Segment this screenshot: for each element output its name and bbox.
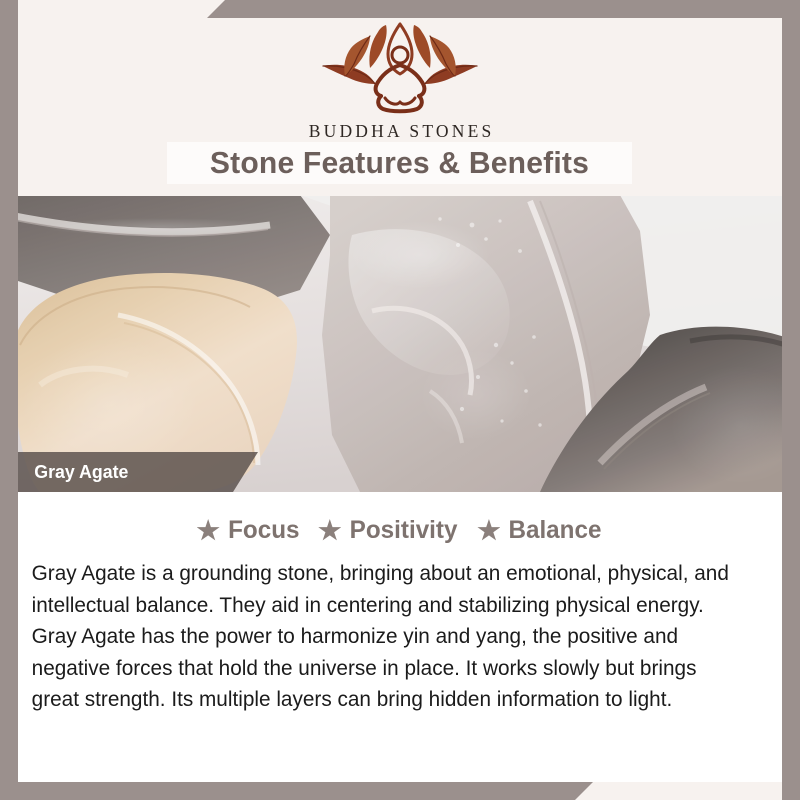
header: BUDDHA STONES Stone Features & Benefits xyxy=(0,0,800,196)
stone-photo: Gray Agate xyxy=(0,195,800,492)
page-title: Stone Features & Benefits xyxy=(210,145,589,181)
keyword-item-focus: Focus xyxy=(197,516,301,545)
stone-name-label: Gray Agate xyxy=(3,461,129,483)
keyword-list: Focus Positivity Balance xyxy=(18,516,782,545)
stone-name-badge: Gray Agate xyxy=(0,452,258,492)
poster-root: BUDDHA STONES Stone Features & Benefits xyxy=(0,0,800,800)
star-icon xyxy=(318,519,341,542)
brand-name: BUDDHA STONES xyxy=(0,121,800,142)
stone-photo-image xyxy=(0,195,800,492)
star-icon xyxy=(477,519,500,542)
keyword-item-balance: Balance xyxy=(477,516,603,545)
decorative-band-bottom xyxy=(0,782,800,800)
content-panel: Focus Positivity Balance Gray Agate is a… xyxy=(18,492,782,782)
title-banner: Stone Features & Benefits xyxy=(167,142,632,184)
brand-logo: BUDDHA STONES xyxy=(0,22,800,142)
keyword-label: Positivity xyxy=(350,516,458,545)
keyword-label: Focus xyxy=(228,516,299,545)
stone-description: Gray Agate is a grounding stone, bringin… xyxy=(18,558,763,716)
keyword-item-positivity: Positivity xyxy=(318,516,459,545)
star-icon xyxy=(197,519,220,542)
lotus-meditation-logo-icon xyxy=(0,22,800,119)
keyword-label: Balance xyxy=(509,516,602,545)
